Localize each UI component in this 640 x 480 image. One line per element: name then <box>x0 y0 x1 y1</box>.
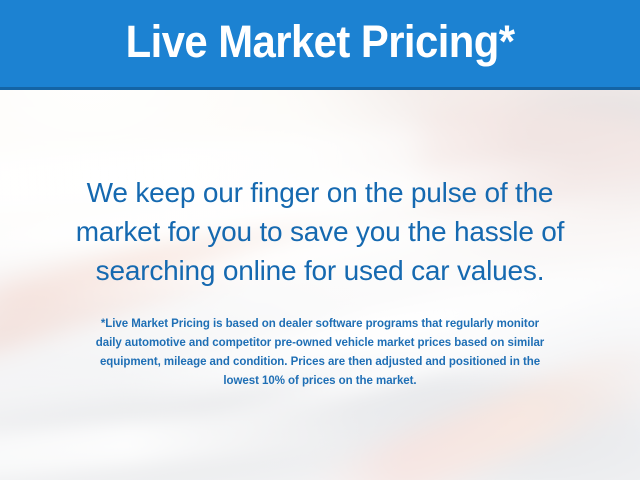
disclaimer-line-4: lowest 10% of prices on the market. <box>0 372 640 391</box>
disclaimer-text: *Live Market Pricing is based on dealer … <box>0 315 640 391</box>
live-market-pricing-banner: Live Market Pricing* We keep our finger … <box>0 0 640 480</box>
headline-line-2: market for you to save you the hassle of <box>0 212 640 251</box>
header-band: Live Market Pricing* <box>0 0 640 90</box>
headline-line-3: searching online for used car values. <box>0 251 640 290</box>
page-title: Live Market Pricing* <box>126 19 515 68</box>
headline-line-1: We keep our finger on the pulse of the <box>0 173 640 212</box>
disclaimer-line-3: equipment, mileage and condition. Prices… <box>0 353 640 372</box>
content-area: We keep our finger on the pulse of the m… <box>0 93 640 480</box>
disclaimer-line-1: *Live Market Pricing is based on dealer … <box>0 315 640 334</box>
headline-text: We keep our finger on the pulse of the m… <box>0 173 640 290</box>
disclaimer-line-2: daily automotive and competitor pre-owne… <box>0 334 640 353</box>
